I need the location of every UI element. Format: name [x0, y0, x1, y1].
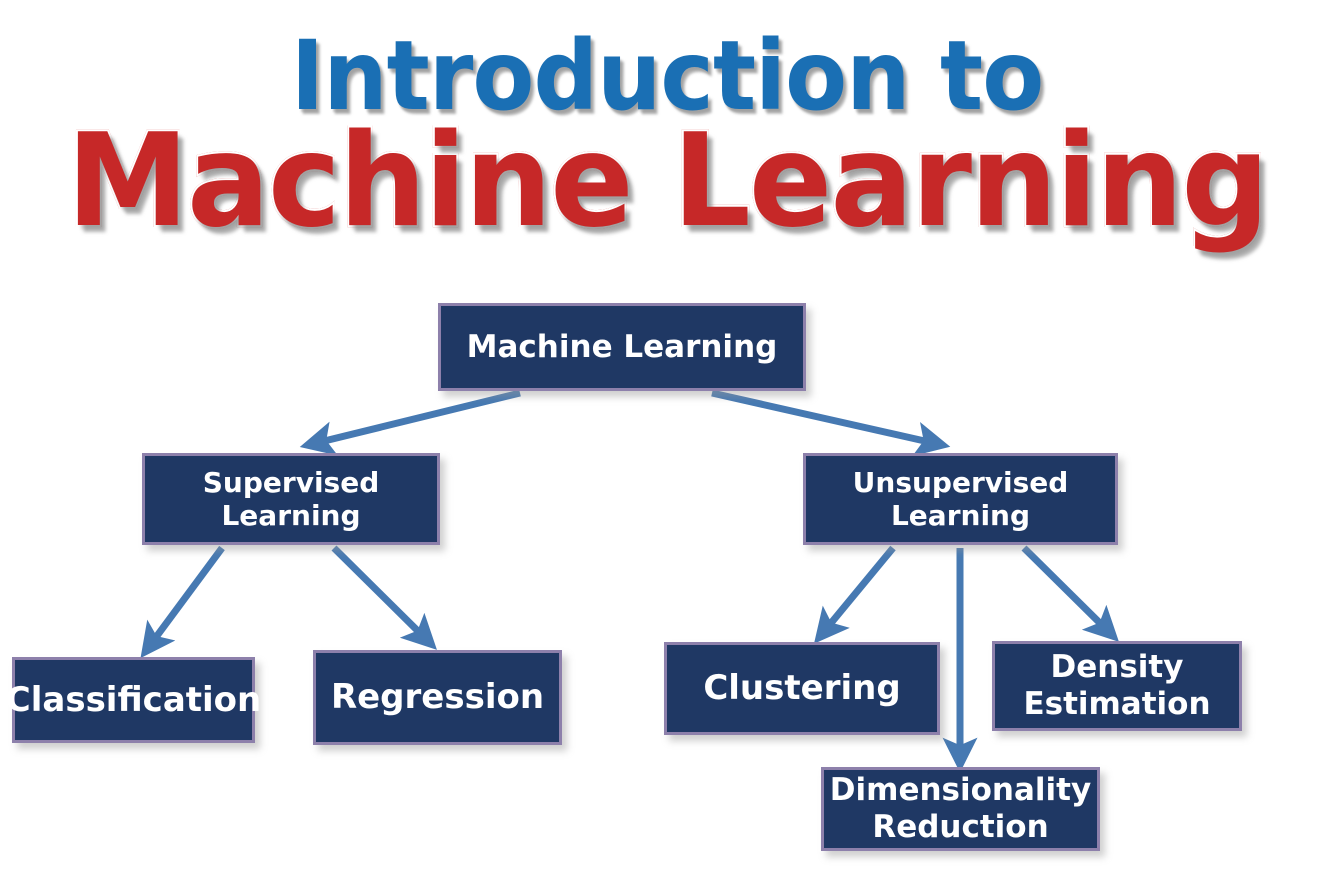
edge-unsupervised-to-clustering: [822, 548, 893, 634]
node-clustering-label: Clustering: [703, 668, 900, 708]
node-regression-label: Regression: [331, 677, 544, 717]
node-density-estimation[interactable]: Density Estimation: [992, 641, 1242, 731]
node-dimensionality-reduction[interactable]: Dimensionality Reduction: [821, 767, 1100, 851]
edge-supervised-to-classification: [148, 548, 222, 648]
slide-canvas: Introduction to Machine Learning Machine…: [0, 0, 1334, 888]
node-supervised-learning-label: Supervised Learning: [203, 466, 380, 532]
edge-root-to-supervised: [312, 393, 520, 444]
node-classification-label: Classification: [6, 680, 261, 720]
node-classification[interactable]: Classification: [12, 657, 255, 743]
node-regression[interactable]: Regression: [313, 650, 562, 745]
node-density-estimation-label: Density Estimation: [1023, 649, 1210, 722]
node-machine-learning[interactable]: Machine Learning: [438, 303, 806, 391]
edge-root-to-unsupervised: [712, 393, 938, 444]
edge-unsupervised-to-density: [1024, 548, 1110, 633]
diagram-connectors: [0, 0, 1334, 888]
node-dimensionality-reduction-label: Dimensionality Reduction: [830, 772, 1091, 845]
node-unsupervised-learning[interactable]: Unsupervised Learning: [803, 453, 1118, 545]
node-supervised-learning[interactable]: Supervised Learning: [142, 453, 440, 545]
node-machine-learning-label: Machine Learning: [467, 329, 778, 366]
edge-supervised-to-regression: [334, 548, 428, 641]
node-unsupervised-learning-label: Unsupervised Learning: [853, 466, 1069, 532]
node-clustering[interactable]: Clustering: [664, 642, 940, 735]
